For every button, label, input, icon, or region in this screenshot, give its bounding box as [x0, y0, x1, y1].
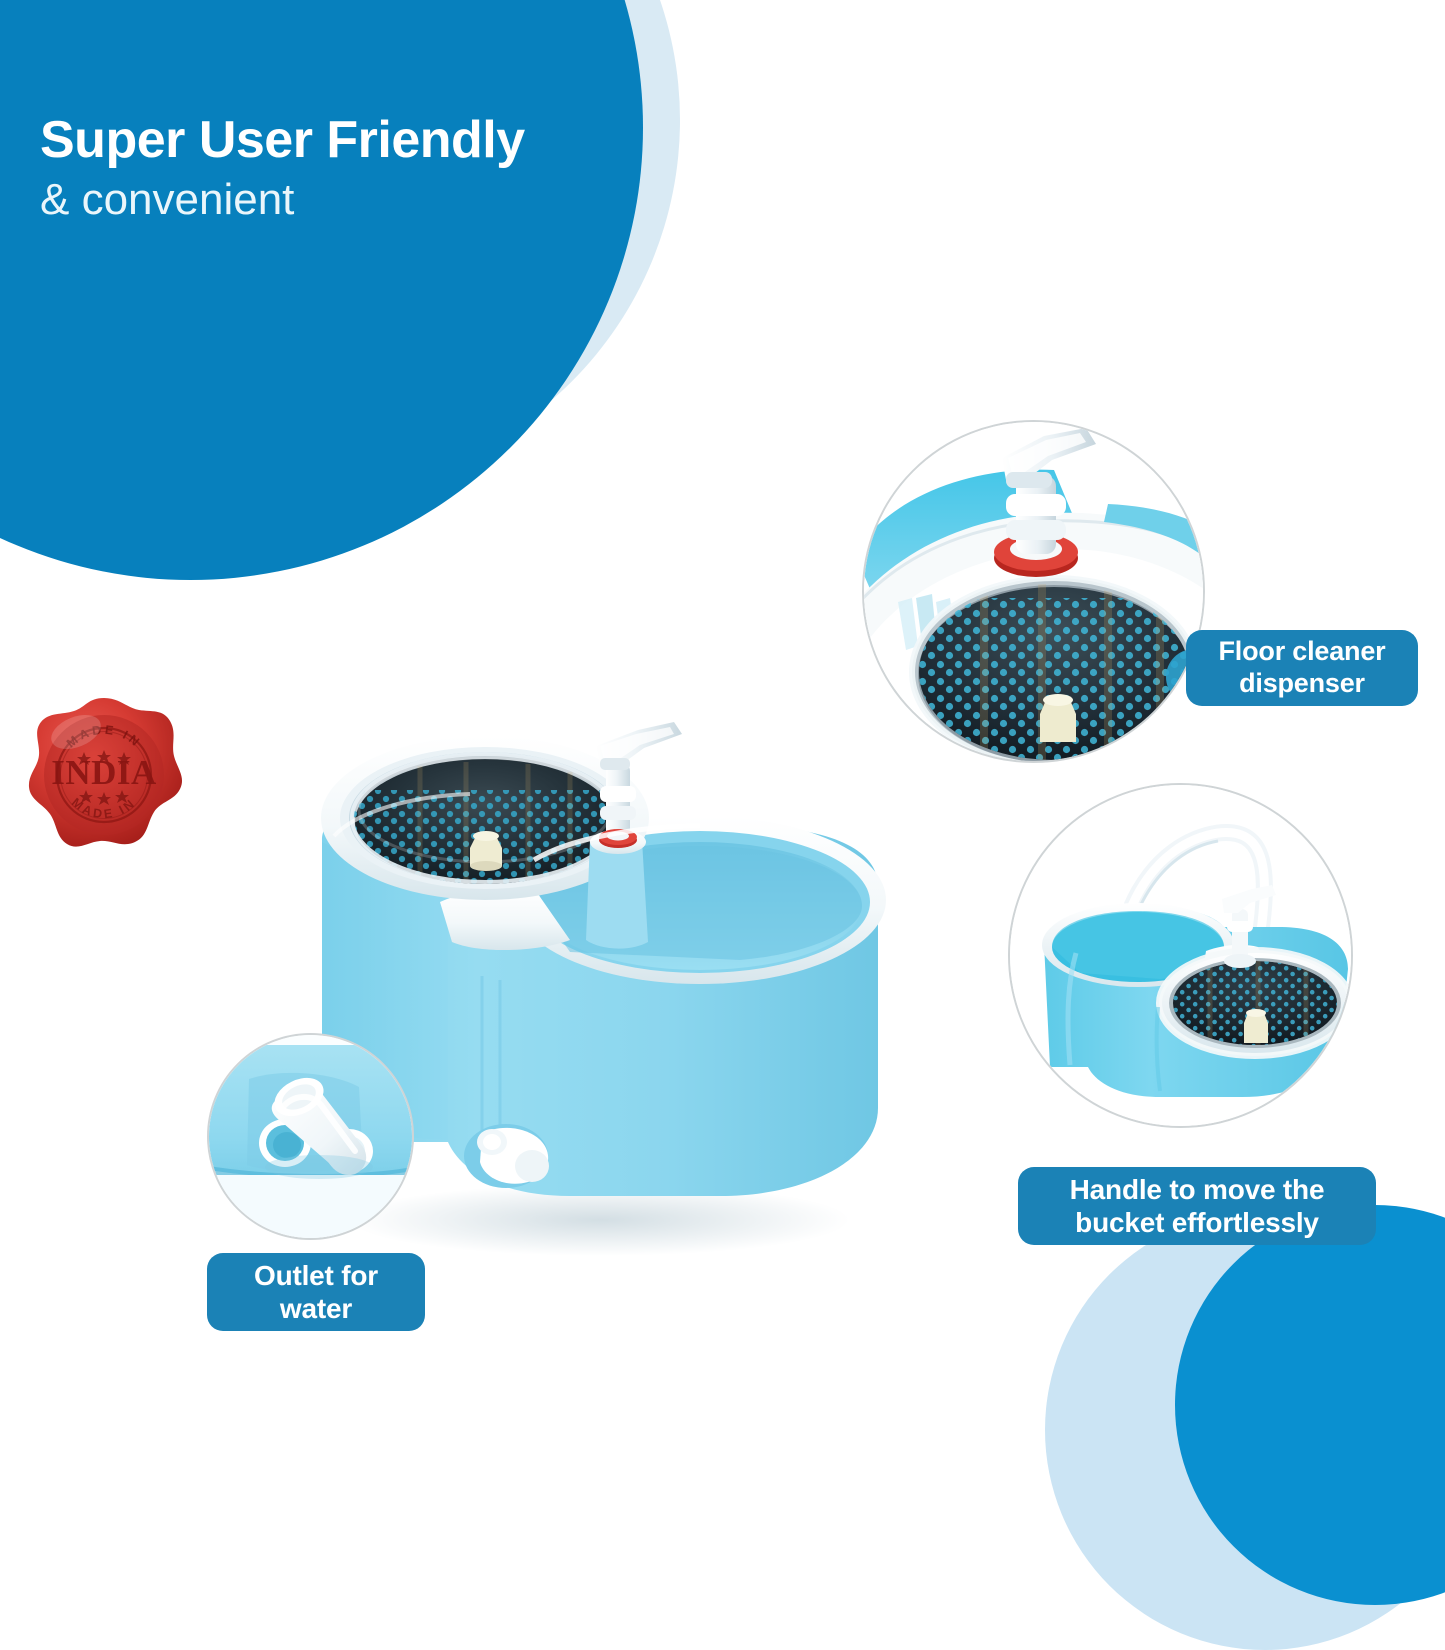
- callout-bucket-handle: [1008, 783, 1353, 1128]
- callout-water-outlet: [207, 1033, 414, 1240]
- label-line-1: Floor cleaner: [1219, 636, 1386, 666]
- label-water-outlet: Outlet for water: [207, 1253, 425, 1331]
- label-line-2: dispenser: [1239, 668, 1365, 698]
- page-subtitle: & convenient: [40, 172, 525, 227]
- label-line-1: Outlet for: [254, 1260, 378, 1291]
- svg-text:INDIA: INDIA: [51, 753, 157, 792]
- made-in-india-seal: MADE IN MADE IN INDIA: [24, 694, 184, 856]
- page-title: Super User Friendly: [40, 113, 525, 168]
- header-blue-blob: [0, 0, 643, 580]
- header-text-block: Super User Friendly & convenient: [40, 113, 525, 227]
- label-line-2: bucket effortlessly: [1075, 1207, 1319, 1238]
- label-line-1: Handle to move the: [1070, 1174, 1325, 1205]
- callout-floor-cleaner-dispenser: [862, 420, 1205, 763]
- label-line-2: water: [280, 1293, 352, 1324]
- label-floor-cleaner-dispenser: Floor cleaner dispenser: [1186, 630, 1418, 706]
- label-bucket-handle: Handle to move the bucket effortlessly: [1018, 1167, 1376, 1245]
